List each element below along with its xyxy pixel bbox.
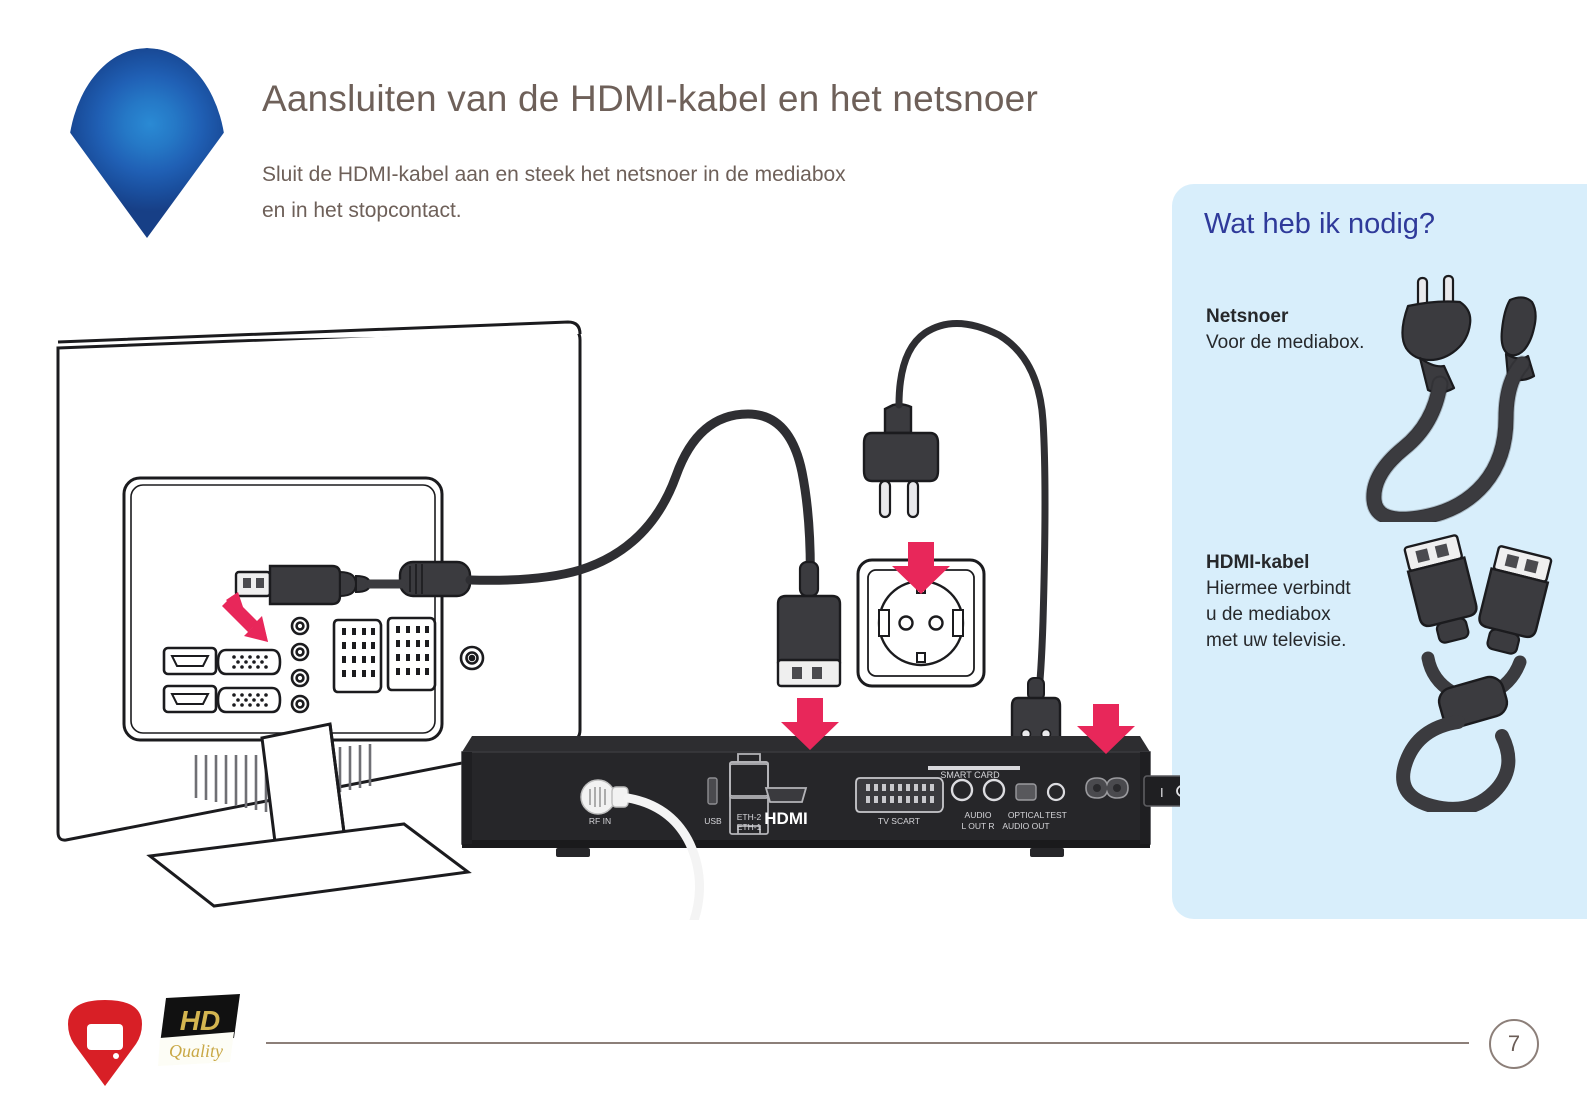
page-root: Aansluiten van de HDMI-kabel en het nets…: [0, 0, 1587, 1119]
label-rf-in: RF IN: [589, 816, 611, 826]
requirements-panel: Wat heb ik nodig? Netsnoer Voor de media…: [1172, 184, 1587, 919]
label-l-out-r: L OUT R: [961, 821, 994, 831]
hdmi-cable-illustration: [1350, 532, 1587, 812]
test-jack: [1048, 784, 1064, 800]
page-number: 7: [1489, 1019, 1539, 1069]
scart-port-2: [388, 618, 435, 690]
label-test: TEST: [1045, 810, 1067, 820]
label-tv-scart: TV SCART: [878, 816, 920, 826]
label-usb: USB: [704, 816, 722, 826]
hd-badge-bottom-text: Quality: [169, 1041, 223, 1061]
label-smart-card: SMART CARD: [940, 770, 1000, 780]
europlug-power-plug: [864, 404, 938, 517]
page-subtitle: Sluit de HDMI-kabel aan en steek het net…: [262, 157, 846, 229]
scart-port-1: [334, 620, 381, 692]
page-title: Aansluiten van de HDMI-kabel en het nets…: [262, 78, 1038, 120]
mediabox-scart-port: [856, 778, 943, 812]
hdmi-port-2: [164, 686, 216, 712]
label-optical: OPTICAL: [1008, 810, 1045, 820]
mediabox-hdmi-port: [766, 788, 806, 802]
label-audio-out: AUDIO OUT: [1002, 821, 1049, 831]
svg-text:I: I: [1160, 785, 1164, 800]
vga-port-2: [218, 688, 280, 712]
optical-audio-out: [1016, 784, 1036, 800]
hdmi-port-1: [164, 648, 216, 674]
vga-port-1: [218, 650, 280, 674]
usb-port: [708, 778, 717, 804]
power-switch: I: [1144, 776, 1180, 806]
mediabox-rear-panel: I RF IN USB ETH-2 ETH-1 SMART CARD TV SC…: [462, 736, 1180, 920]
page-subtitle-line2: en in het stopcontact.: [262, 193, 846, 229]
label-hdmi: HDMI: [764, 809, 807, 828]
label-eth2: ETH-2: [737, 812, 762, 822]
hdmi-plug-to-mediabox: [778, 562, 840, 686]
footer-divider: [266, 1042, 1469, 1044]
hd-badge-top-text: HD: [180, 1005, 220, 1036]
requirements-panel-title: Wat heb ik nodig?: [1204, 208, 1435, 241]
label-audio: AUDIO: [965, 810, 992, 820]
ferrite-bead: [400, 562, 470, 596]
connection-diagram: I RF IN USB ETH-2 ETH-1 SMART CARD TV SC…: [0, 300, 1180, 920]
page-subtitle-line1: Sluit de HDMI-kabel aan en steek het net…: [262, 157, 846, 193]
hd-quality-badge-icon: HD Quality: [158, 994, 242, 1066]
antenna-jack: [461, 647, 483, 669]
red-tv-pin-logo-icon: [68, 1000, 142, 1086]
power-cord-illustration: [1362, 272, 1587, 522]
label-eth1: ETH-1: [737, 822, 762, 832]
blue-pin-marker-icon: [68, 48, 226, 238]
